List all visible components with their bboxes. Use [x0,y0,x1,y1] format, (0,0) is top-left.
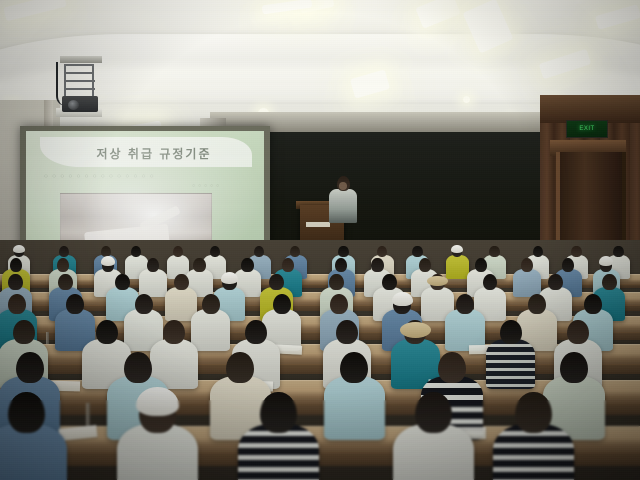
attendee-head [66,294,84,314]
attendee-head [489,246,499,257]
attendee-head [548,274,563,290]
attendee-head [241,258,253,272]
wall-right-cornice [540,95,640,123]
exit-sign: EXIT [566,120,608,138]
attendee-head [329,274,344,290]
attendee-torso [513,269,540,298]
projector-ceiling-mount [60,56,102,63]
attendee-head [613,246,623,257]
attendee-head [338,246,348,257]
scissor-lift-bar [64,64,94,66]
attendee-head [10,258,22,272]
speaker-face [339,182,347,190]
attendee-head [193,258,205,272]
attendee-cap [392,292,413,306]
attendee-head [521,258,533,272]
audience-hall [0,240,640,480]
scissor-lift-bar [65,88,95,90]
attendee-torso-striped [486,339,534,390]
attendee-torso [324,376,386,440]
attendee-head [226,352,254,383]
attendee-head [567,320,589,344]
attendee-cap [599,256,613,266]
attendee-head [500,320,522,344]
photo-scene: EXIT 저상 취급 규정기준 ○ ○ ○ ○ ○ ○ ○ ○ ○ ○ ○ ○ … [0,0,640,480]
attendee-head [438,352,466,383]
attendee-head [419,258,431,272]
attendee-head [475,258,487,272]
attendee-head [415,392,452,433]
attendee-head [340,352,368,383]
attendee-cap [136,387,179,416]
attendee-head [96,320,118,344]
attendee-head [335,258,347,272]
attendee-cap [451,245,463,253]
attendee-head [8,392,45,433]
attendee-head [273,294,291,314]
attendee-head [330,294,348,314]
attendee-head [115,274,130,290]
attendee-head [210,246,220,257]
podium-name-plate [306,222,330,227]
attendee-head [371,258,383,272]
scissor-lift-bar [64,72,94,74]
attendee-head [602,274,617,290]
attendee-torso [191,309,231,350]
attendee-head [124,352,152,383]
attendee-head [16,352,44,383]
attendee-head [163,320,185,344]
attendee-head [483,274,498,290]
attendee-head [533,246,543,257]
attendee-cap [101,256,115,266]
attendee-head [560,352,588,383]
attendee-head [202,294,220,314]
attendee-cap [221,272,238,284]
attendee-head [336,320,358,344]
exit-sign-label: EXIT [579,126,594,132]
attendee-head [8,294,26,314]
attendee-head [58,274,73,290]
attendee-torso [446,255,469,279]
speaker-body [329,189,357,223]
attendee-torso [139,269,166,298]
attendee-head [57,258,69,272]
attendee-head [412,246,422,257]
attendee-head [260,392,297,433]
projector-lens-icon [68,100,79,110]
attendee-head [135,294,153,314]
attendee-head [382,274,397,290]
attendee-head [571,246,581,257]
attendee-head [456,294,474,314]
scissor-lift-bar [65,80,95,82]
attendee-head [282,258,294,272]
attendee-head [13,320,35,344]
attendee-head [528,294,546,314]
attendee-head [562,258,574,272]
attendee-head [245,320,267,344]
attendee-head [515,392,552,433]
attendee-cap [13,245,25,253]
attendee-head [269,274,284,290]
attendee-head [174,274,189,290]
attendee-head [8,274,23,290]
attendee-head [147,258,159,272]
ceiling-downlight [463,96,470,103]
attendee-head [584,294,602,314]
